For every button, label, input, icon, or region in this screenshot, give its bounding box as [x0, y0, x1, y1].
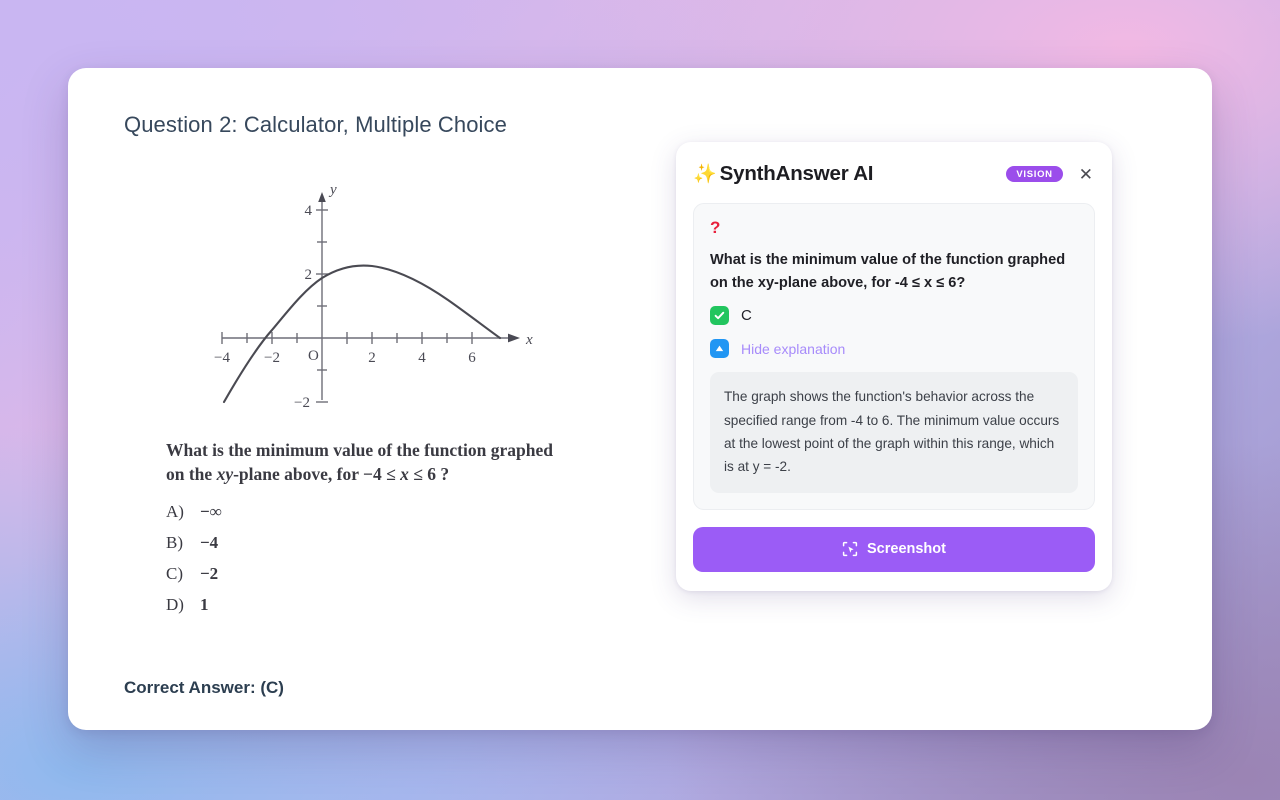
check-icon: [710, 306, 729, 325]
svg-text:−2: −2: [294, 395, 310, 411]
toggle-explanation-button[interactable]: Hide explanation: [710, 339, 1078, 358]
page-title: Question 2: Calculator, Multiple Choice: [124, 112, 507, 138]
svg-text:−4: −4: [214, 350, 230, 366]
ai-question-card: ? What is the minimum value of the funct…: [693, 203, 1095, 510]
svg-text:y: y: [328, 182, 337, 198]
page-card: Question 2: Calculator, Multiple Choice: [68, 68, 1212, 730]
sparkles-icon: ✨: [693, 165, 717, 184]
svg-text:4: 4: [418, 350, 426, 366]
choice-d[interactable]: D) 1: [166, 596, 616, 613]
question-content-area: Question 2: Calculator, Multiple Choice: [124, 68, 694, 730]
question-mark-icon: ?: [710, 219, 1078, 236]
choice-c[interactable]: C) −2: [166, 565, 616, 582]
answer-choices: A) −∞ B) −4 C) −2 D) 1: [166, 503, 616, 613]
choice-b[interactable]: B) −4: [166, 534, 616, 551]
ai-question-text: What is the minimum value of the functio…: [710, 249, 1078, 294]
question-stem-line2-c: ≤ 6 ?: [409, 464, 449, 484]
function-graph-figure: y x O −4 −2 2 4 6 −2 2 4: [204, 178, 544, 413]
question-body: What is the minimum value of the functio…: [166, 438, 616, 627]
svg-text:6: 6: [468, 350, 476, 366]
ai-answer-row: C: [710, 306, 1078, 325]
correct-answer-label: Correct Answer: (C): [124, 678, 284, 698]
choice-c-value: −2: [200, 565, 218, 582]
choice-b-value: −4: [200, 534, 218, 551]
ai-panel-header: ✨ SynthAnswer AI VISION ✕: [693, 159, 1095, 189]
choice-a-letter: A): [166, 503, 200, 520]
ai-answer-letter: C: [741, 307, 752, 324]
toggle-explanation-label: Hide explanation: [741, 341, 845, 357]
screenshot-capture-icon: [842, 541, 858, 557]
svg-text:2: 2: [368, 350, 376, 366]
ai-assistant-panel: ✨ SynthAnswer AI VISION ✕ ? What is the …: [676, 142, 1112, 591]
choice-d-letter: D): [166, 596, 200, 613]
svg-text:x: x: [525, 332, 533, 348]
choice-b-letter: B): [166, 534, 200, 551]
vision-badge: VISION: [1006, 166, 1062, 182]
question-stem: What is the minimum value of the functio…: [166, 438, 616, 486]
choice-a-value: −∞: [200, 503, 222, 520]
svg-text:4: 4: [305, 203, 313, 219]
screenshot-button[interactable]: Screenshot: [693, 527, 1095, 572]
ai-explanation-text: The graph shows the function's behavior …: [710, 372, 1078, 493]
screenshot-button-label: Screenshot: [867, 541, 946, 557]
close-icon[interactable]: ✕: [1077, 166, 1095, 183]
choice-c-letter: C): [166, 565, 200, 582]
ai-panel-title: SynthAnswer AI: [720, 162, 874, 186]
question-stem-line2-b: -plane above, for −4 ≤: [233, 464, 400, 484]
choice-a[interactable]: A) −∞: [166, 503, 616, 520]
triangle-up-icon: [710, 339, 729, 358]
question-stem-xy: xy: [217, 464, 234, 484]
svg-text:−2: −2: [264, 350, 280, 366]
svg-text:2: 2: [305, 267, 313, 283]
question-stem-x: x: [400, 464, 409, 484]
svg-text:O: O: [308, 348, 319, 364]
choice-d-value: 1: [200, 596, 209, 613]
question-stem-line2-a: on the: [166, 464, 217, 484]
question-stem-line1: What is the minimum value of the functio…: [166, 440, 553, 460]
